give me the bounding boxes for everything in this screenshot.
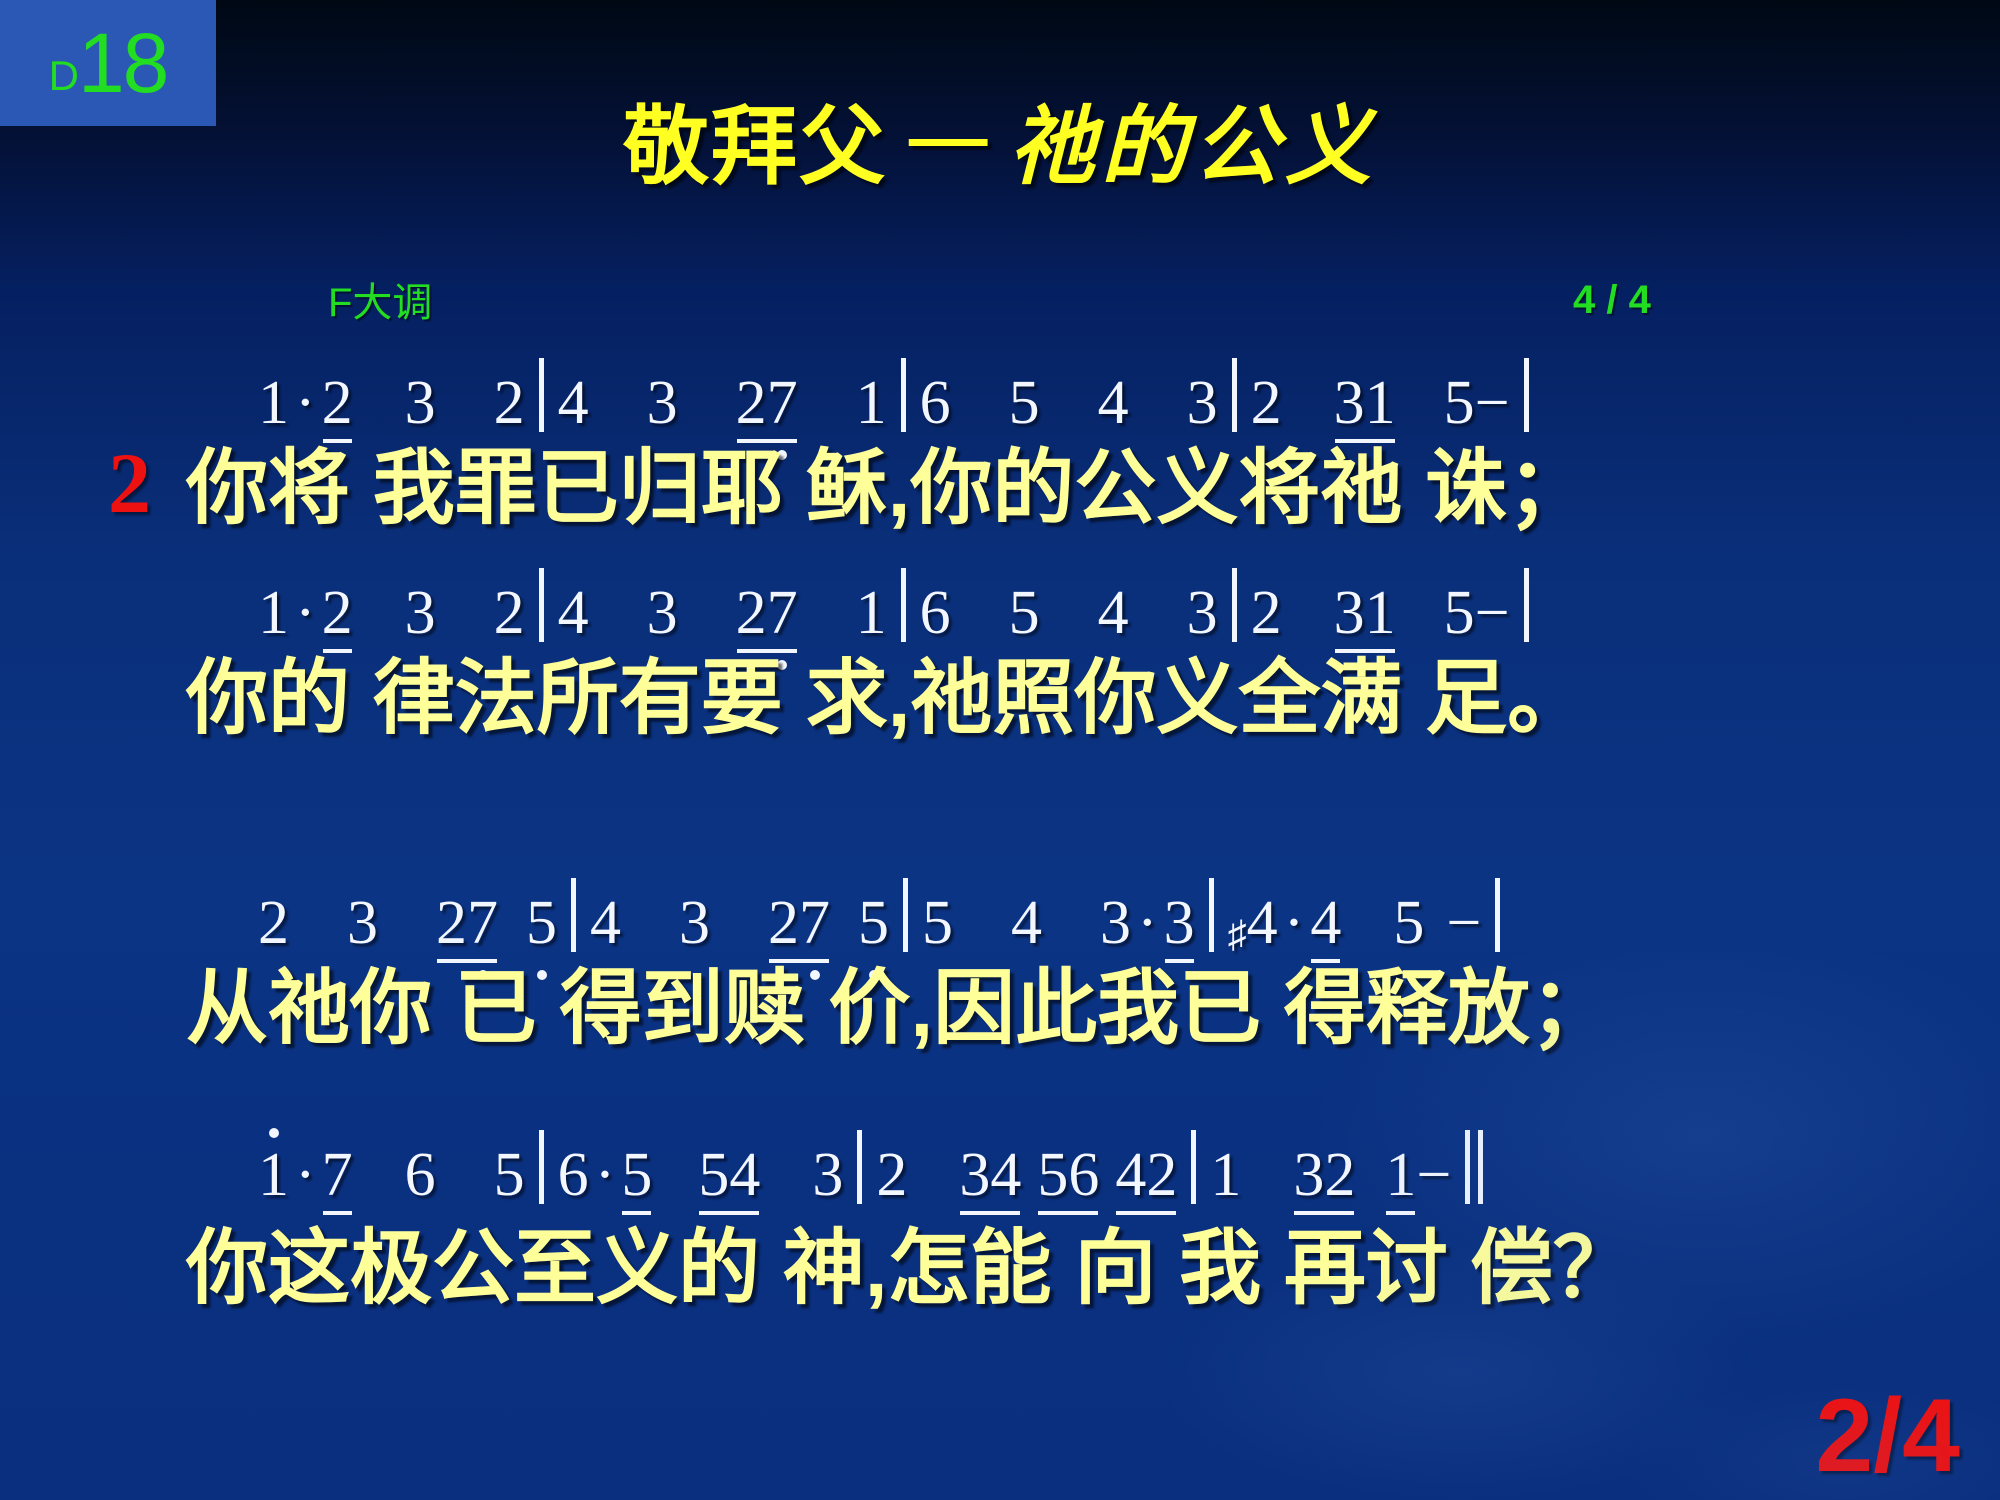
note: 4 bbox=[729, 1144, 760, 1206]
note: 3 bbox=[405, 582, 436, 644]
note: 2 bbox=[494, 372, 525, 434]
note: 3 bbox=[347, 892, 378, 954]
time-signature: 4 / 4 bbox=[1573, 280, 1651, 320]
barline bbox=[901, 568, 906, 642]
augmentation-dot: · bbox=[289, 1144, 322, 1206]
note: 5 bbox=[698, 1144, 729, 1206]
augmentation-dot: · bbox=[1278, 892, 1311, 954]
barline bbox=[539, 1130, 544, 1204]
hold-dash: − bbox=[1475, 372, 1510, 434]
barline bbox=[901, 358, 906, 432]
note: 5 bbox=[1444, 372, 1475, 434]
beamed-group: 31 bbox=[1334, 582, 1396, 644]
note: 6 bbox=[558, 1144, 589, 1206]
note: 2 bbox=[1251, 582, 1282, 644]
page-title: 敬拜父一祂的公义 bbox=[0, 104, 2000, 190]
final-barline bbox=[1465, 1130, 1470, 1204]
title-subtitle: 祂的公义 bbox=[1009, 96, 1377, 197]
note: 3 bbox=[1187, 372, 1218, 434]
lyric-text-2: 你的 律法所有要 求,祂照你义全满 足。 bbox=[0, 658, 1589, 740]
augmentation-dot: · bbox=[1131, 892, 1164, 954]
barline bbox=[1495, 878, 1500, 952]
beamed-group: 32 bbox=[1293, 1144, 1355, 1206]
note: 4 bbox=[558, 582, 589, 644]
note: 5 bbox=[1444, 582, 1475, 644]
note: 3 bbox=[405, 372, 436, 434]
note: 3 bbox=[1293, 1144, 1324, 1206]
note: 3 bbox=[647, 582, 678, 644]
note: 2 bbox=[322, 372, 353, 434]
lyric-line-2: 你的 律法所有要 求,祂照你义全满 足。 bbox=[0, 658, 2000, 740]
title-dash: 一 bbox=[887, 99, 1009, 195]
note: 6 bbox=[920, 372, 951, 434]
note: 1 bbox=[1365, 372, 1396, 434]
note: 3 bbox=[647, 372, 678, 434]
note: 4 bbox=[590, 892, 621, 954]
notation-line-2: 1·2 3 2 4 3 27 1 6 5 4 3 2 31 5− bbox=[0, 568, 2000, 644]
note: 4 bbox=[1098, 372, 1129, 434]
barline bbox=[857, 1130, 862, 1204]
notation-line-1: 1·2 3 2 4 3 27 1 6 5 4 3 2 31 5− bbox=[0, 358, 2000, 434]
lyric-text-1: 你将 我罪已归耶 稣,你的公义将祂 诛； bbox=[0, 448, 1589, 530]
beamed-group: 27 bbox=[736, 582, 798, 644]
slide-canvas: D18 敬拜父一祂的公义 F大调 4 / 4 1·2 3 2 4 3 27 1 … bbox=[0, 0, 2000, 1500]
note: 3 bbox=[1187, 582, 1218, 644]
score-header: F大调 4 / 4 bbox=[0, 283, 2000, 331]
note: 5 bbox=[922, 892, 953, 954]
key-signature: F大调 bbox=[328, 283, 432, 323]
augmentation-dot: · bbox=[289, 582, 322, 644]
barline bbox=[1524, 568, 1529, 642]
badge-prefix: D bbox=[49, 55, 78, 97]
lyric-text-3: 从祂你 已 得到赎 价,因此我已 得释放； bbox=[0, 968, 1612, 1050]
note: 2 bbox=[736, 372, 767, 434]
note: 4 bbox=[1310, 892, 1341, 954]
note: 7 bbox=[799, 892, 830, 954]
note: 7 bbox=[767, 372, 798, 434]
note: 1 bbox=[856, 582, 887, 644]
note: 6 bbox=[1068, 1144, 1099, 1206]
note: 1 bbox=[1385, 1144, 1416, 1206]
note: 5 bbox=[494, 1144, 525, 1206]
hold-dash: − bbox=[1416, 1144, 1451, 1206]
hold-dash: − bbox=[1446, 892, 1481, 954]
title-main: 敬拜父 bbox=[623, 99, 887, 195]
beamed-group: 27 bbox=[768, 892, 830, 954]
note: 5 bbox=[621, 1144, 652, 1206]
beamed-group: 27 bbox=[736, 372, 798, 434]
augmentation-dot: · bbox=[289, 372, 322, 434]
note: 7 bbox=[467, 892, 498, 954]
barline bbox=[539, 358, 544, 432]
note: 2 bbox=[736, 582, 767, 644]
note: 2 bbox=[1146, 1144, 1177, 1206]
note: 1 bbox=[1365, 582, 1396, 644]
barline bbox=[539, 568, 544, 642]
note: 5 bbox=[526, 892, 557, 954]
beamed-group: 31 bbox=[1334, 372, 1396, 434]
note: 1 bbox=[1210, 1144, 1241, 1206]
note: 7 bbox=[767, 582, 798, 644]
beamed-group: 34 bbox=[959, 1144, 1021, 1206]
note: 4 bbox=[1115, 1144, 1146, 1206]
lyric-line-3: 从祂你 已 得到赎 价,因此我已 得释放； bbox=[0, 968, 2000, 1050]
note: 3 bbox=[812, 1144, 843, 1206]
note: 4 bbox=[1011, 892, 1042, 954]
note: 1 bbox=[258, 1144, 289, 1206]
barline bbox=[1232, 358, 1237, 432]
beamed-group: 42 bbox=[1115, 1144, 1177, 1206]
note: 1 bbox=[856, 372, 887, 434]
note: 5 bbox=[858, 892, 889, 954]
note: 4 bbox=[558, 372, 589, 434]
note: 3 bbox=[1334, 372, 1365, 434]
note: 4 bbox=[1247, 892, 1278, 954]
note: 2 bbox=[258, 892, 289, 954]
note: 2 bbox=[494, 582, 525, 644]
barline bbox=[1209, 878, 1214, 952]
notation-line-4: 1·7 6 5 6·5 54 3 2 34 56 42 1 32 1− bbox=[0, 1130, 2000, 1206]
notation-line-3: 2 3 27 5 4 3 27 5 5 4 3·3 ♯4·4 5 − bbox=[0, 878, 2000, 954]
note: 5 bbox=[1009, 582, 1040, 644]
note: 2 bbox=[322, 582, 353, 644]
badge-number: 18 bbox=[78, 21, 167, 105]
barline bbox=[1191, 1130, 1196, 1204]
note: 3 bbox=[679, 892, 710, 954]
note: 2 bbox=[876, 1144, 907, 1206]
note: 5 bbox=[1393, 892, 1424, 954]
note: 3 bbox=[1164, 892, 1195, 954]
beamed-group: 54 bbox=[698, 1144, 760, 1206]
note: 2 bbox=[1324, 1144, 1355, 1206]
note: 1 bbox=[258, 372, 289, 434]
beamed-group: 1 bbox=[1385, 1144, 1416, 1206]
note: 3 bbox=[959, 1144, 990, 1206]
note: 7 bbox=[322, 1144, 353, 1206]
note: 5 bbox=[1009, 372, 1040, 434]
page-indicator: 2/4 bbox=[1815, 1384, 1960, 1488]
note: 2 bbox=[768, 892, 799, 954]
beamed-group: 27 bbox=[436, 892, 498, 954]
augmentation-dot: · bbox=[589, 1144, 622, 1206]
note: 3 bbox=[1100, 892, 1131, 954]
note: 5 bbox=[1037, 1144, 1068, 1206]
note: 4 bbox=[1098, 582, 1129, 644]
hold-dash: − bbox=[1475, 582, 1510, 644]
note: 1 bbox=[258, 582, 289, 644]
note: 2 bbox=[436, 892, 467, 954]
note: 4 bbox=[990, 1144, 1021, 1206]
sharp-icon: ♯ bbox=[1228, 916, 1247, 954]
note: 6 bbox=[405, 1144, 436, 1206]
beamed-group: 56 bbox=[1037, 1144, 1099, 1206]
final-barline bbox=[1478, 1130, 1483, 1204]
verse-number: 2 bbox=[108, 440, 151, 526]
barline bbox=[571, 878, 576, 952]
note: 6 bbox=[920, 582, 951, 644]
lyric-line-4: 你这极公至义的 神,怎能 向 我 再讨 偿？ bbox=[0, 1228, 2000, 1310]
lyric-text-4: 你这极公至义的 神,怎能 向 我 再讨 偿？ bbox=[0, 1228, 1635, 1310]
barline bbox=[1232, 568, 1237, 642]
note: 2 bbox=[1251, 372, 1282, 434]
barline bbox=[903, 878, 908, 952]
barline bbox=[1524, 358, 1529, 432]
note: 3 bbox=[1334, 582, 1365, 644]
lyric-line-1: 2 你将 我罪已归耶 稣,你的公义将祂 诛； bbox=[0, 448, 2000, 530]
